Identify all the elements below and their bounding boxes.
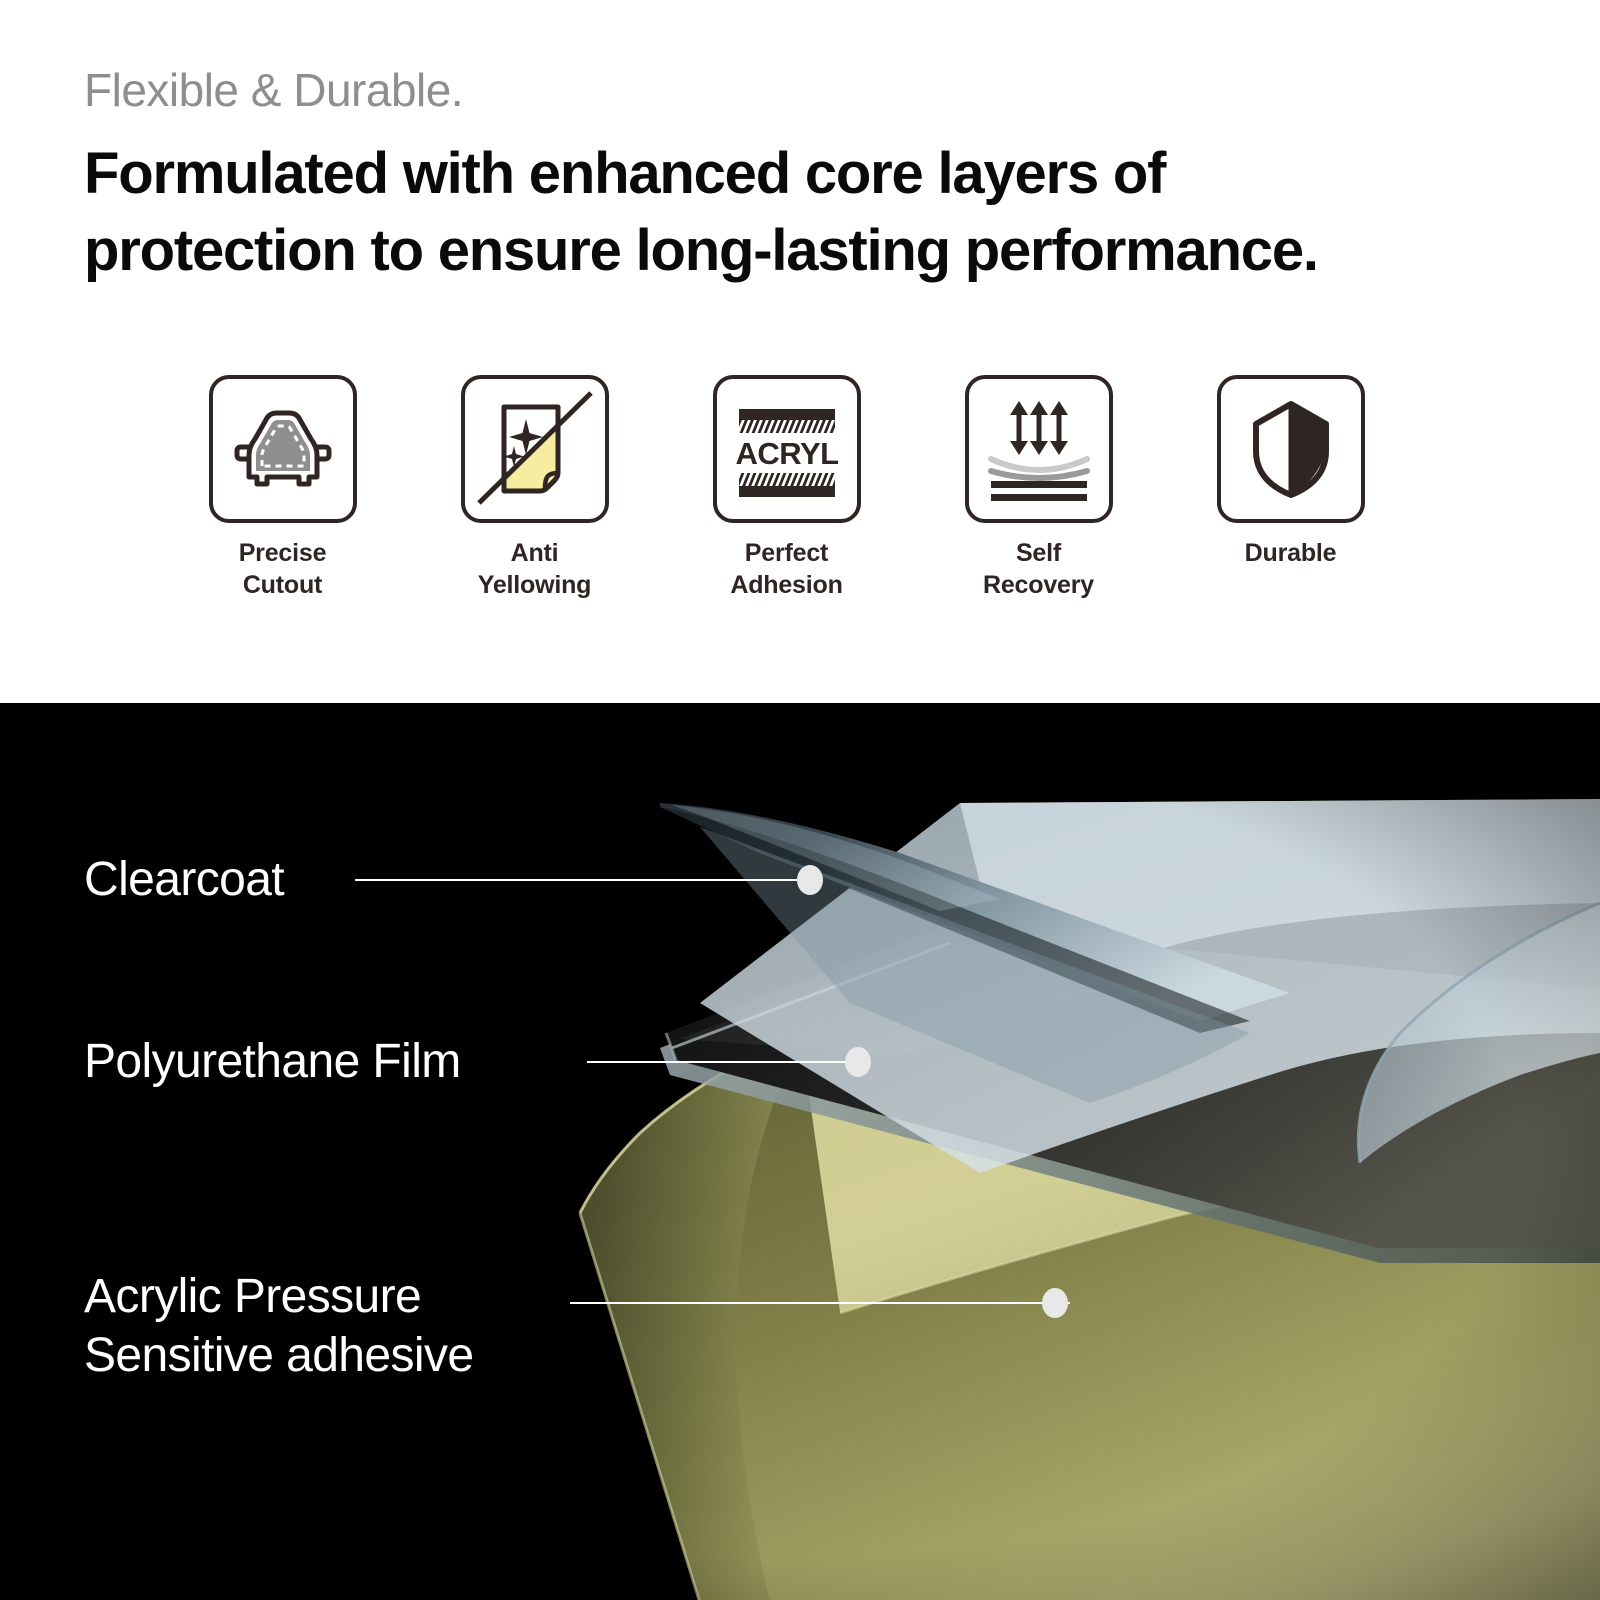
anti-yellowing-icon xyxy=(471,385,599,513)
feature-label-anti-yellowing: Anti Yellowing xyxy=(478,537,592,601)
feature-icon-row: Precise Cutout xyxy=(205,375,1400,605)
feature-label-line-2: Yellowing xyxy=(478,569,592,601)
layer-diagram-panel: Clearcoat Polyurethane Film Acrylic Pres… xyxy=(0,703,1600,1600)
layer-label-adhesive-line-1: Acrylic Pressure xyxy=(84,1268,644,1327)
headline-line-2: protection to ensure long-lasting perfor… xyxy=(84,213,1514,290)
layer-label-clearcoat: Clearcoat xyxy=(84,851,284,910)
feature-label-line-1: Anti xyxy=(478,537,592,569)
page-headline: Formulated with enhanced core layers of … xyxy=(84,136,1514,289)
top-white-panel: Flexible & Durable. Formulated with enha… xyxy=(0,0,1600,703)
feature-box-perfect-adhesion: ACRYL xyxy=(713,375,861,523)
feature-label-perfect-adhesion: Perfect Adhesion xyxy=(730,537,842,601)
feature-durable: Durable xyxy=(1213,375,1368,569)
leader-line-polyurethane xyxy=(587,1061,862,1063)
feature-box-anti-yellowing xyxy=(461,375,609,523)
leader-dot-polyurethane xyxy=(845,1047,871,1077)
self-recovery-icon xyxy=(975,385,1103,513)
feature-box-precise-cutout xyxy=(209,375,357,523)
layer-label-polyurethane: Polyurethane Film xyxy=(84,1033,461,1092)
feature-label-line-2: Recovery xyxy=(983,569,1094,601)
feature-label-line-2: Adhesion xyxy=(730,569,842,601)
feature-self-recovery: Self Recovery xyxy=(961,375,1116,601)
feature-precise-cutout: Precise Cutout xyxy=(205,375,360,601)
feature-anti-yellowing: Anti Yellowing xyxy=(457,375,612,601)
feature-label-durable: Durable xyxy=(1245,537,1337,569)
exploded-layer-illustration xyxy=(0,703,1600,1600)
feature-label-line-2: Cutout xyxy=(239,569,327,601)
layer-label-adhesive-line-2: Sensitive adhesive xyxy=(84,1327,644,1386)
feature-box-self-recovery xyxy=(965,375,1113,523)
leader-line-adhesive xyxy=(570,1302,1070,1304)
feature-label-line-1: Self xyxy=(983,537,1094,569)
acryl-adhesion-icon: ACRYL xyxy=(723,385,851,513)
leader-dot-adhesive xyxy=(1042,1288,1068,1318)
feature-box-durable xyxy=(1217,375,1365,523)
car-cutout-icon xyxy=(219,385,347,513)
feature-label-line-1: Durable xyxy=(1245,537,1337,569)
feature-label-line-1: Precise xyxy=(239,537,327,569)
acryl-label: ACRYL xyxy=(735,436,838,471)
eyebrow-text: Flexible & Durable. xyxy=(84,63,463,117)
leader-line-clearcoat xyxy=(355,879,810,881)
leader-dot-clearcoat xyxy=(797,865,823,895)
layer-label-adhesive: Acrylic Pressure Sensitive adhesive xyxy=(84,1268,644,1385)
shield-icon xyxy=(1227,385,1355,513)
feature-label-line-1: Perfect xyxy=(730,537,842,569)
feature-label-precise-cutout: Precise Cutout xyxy=(239,537,327,601)
feature-perfect-adhesion: ACRYL Perfect Adhesion xyxy=(709,375,864,601)
feature-label-self-recovery: Self Recovery xyxy=(983,537,1094,601)
headline-line-1: Formulated with enhanced core layers of xyxy=(84,136,1514,213)
